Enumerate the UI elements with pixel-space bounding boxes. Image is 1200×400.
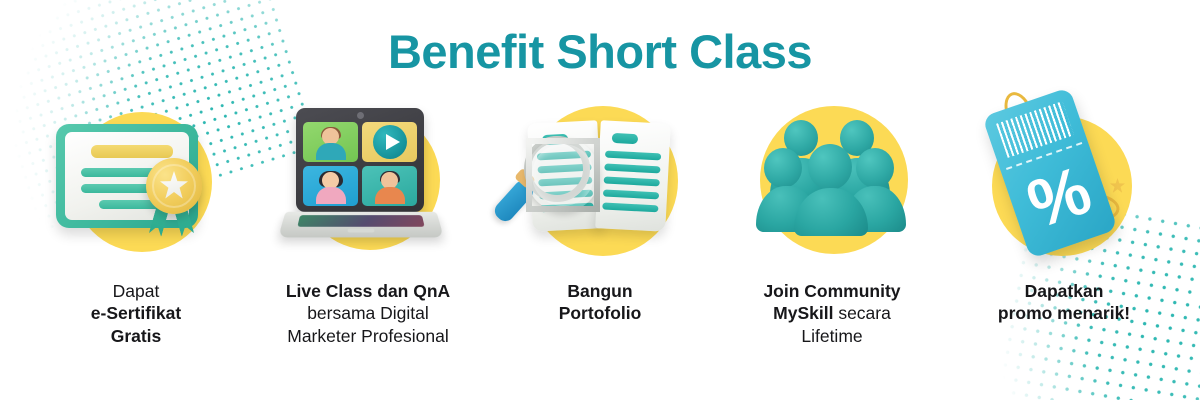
book-text-line: [602, 202, 658, 212]
benefit-item-promo: % Dapatkan promo menarik!: [950, 100, 1178, 325]
caption-line-3: Gratis: [91, 325, 181, 347]
caption-line-2: Portofolio: [559, 302, 642, 324]
book-text-line: [604, 163, 660, 173]
book-text-line: [603, 189, 659, 199]
caption-line-3: Marketer Profesional: [286, 325, 450, 347]
discount-ticket-icon: %: [978, 100, 1150, 268]
benefit-caption: Join Community MySkill secara Lifetime: [763, 280, 900, 347]
video-tile-grid: [303, 122, 417, 206]
caption-text: Join Community: [763, 281, 900, 301]
video-tile-play: [362, 122, 417, 162]
video-tile-participant-2: [303, 166, 358, 206]
caption-line-3: Lifetime: [763, 325, 900, 347]
video-tile-participant-1: [303, 122, 358, 162]
laptop-screen: [296, 108, 424, 212]
benefit-caption: Bangun Portofolio: [559, 280, 642, 325]
magnifier-lens: [526, 138, 600, 212]
benefit-caption: Dapat e-Sertifikat Gratis: [91, 280, 181, 347]
laptop-keyboard: [297, 215, 424, 227]
certificate-medal-icon: [50, 100, 222, 268]
caption-line-2: bersama Digital: [286, 302, 450, 324]
avatar-body: [316, 187, 346, 204]
book-text-line: [604, 176, 660, 186]
people-cluster: [756, 114, 908, 244]
caption-line-1: Dapat: [91, 280, 181, 302]
star-icon: [160, 171, 188, 199]
play-icon: [373, 125, 407, 159]
person-head-mid-right: [856, 148, 894, 188]
benefit-banner: Benefit Short Class: [0, 0, 1200, 400]
benefit-item-live-class: Live Class dan QnA bersama Digital Marke…: [254, 100, 482, 347]
person-head-front-center: [808, 144, 852, 190]
benefit-list: Dapat e-Sertifikat Gratis: [0, 100, 1200, 347]
avatar-body: [375, 187, 405, 204]
benefit-item-portfolio: Bangun Portofolio: [486, 100, 714, 325]
caption-line-1: Live Class dan QnA: [286, 280, 450, 302]
caption-line-2: e-Sertifikat: [91, 302, 181, 324]
book-text-line: [612, 133, 638, 144]
certificate-heading-bar: [91, 145, 173, 158]
benefit-item-certificate: Dapat e-Sertifikat Gratis: [22, 100, 250, 347]
magnifier-icon: [510, 138, 582, 210]
caption-line-1: Dapatkan: [998, 280, 1130, 302]
book-magnifier-icon: [514, 100, 686, 268]
benefit-caption: Dapatkan promo menarik!: [998, 280, 1130, 325]
webcam-icon: [357, 112, 364, 119]
laptop-video-call-icon: [282, 100, 454, 268]
caption-line-2: MySkill secara: [763, 302, 900, 324]
caption-brand: MySkill: [773, 303, 833, 323]
book-text-line: [605, 151, 661, 161]
percent-symbol: %: [1020, 158, 1100, 241]
page-title: Benefit Short Class: [0, 24, 1200, 79]
caption-line-1: Bangun: [559, 280, 642, 302]
laptop-trackpad: [348, 229, 375, 233]
caption-text: secara: [833, 303, 890, 323]
benefit-caption: Live Class dan QnA bersama Digital Marke…: [286, 280, 450, 347]
benefit-item-community: Join Community MySkill secara Lifetime: [718, 100, 946, 347]
caption-line-2: promo menarik!: [998, 302, 1130, 324]
avatar-body: [316, 143, 346, 160]
people-group-icon: [746, 100, 918, 268]
laptop-base: [278, 212, 444, 238]
person-head-mid-left: [764, 148, 802, 188]
gold-medal: [146, 158, 202, 214]
caption-line-1: Join Community: [763, 280, 900, 302]
voucher-ticket: %: [982, 87, 1118, 259]
book-page-right: [595, 120, 671, 232]
video-tile-participant-3: [362, 166, 417, 206]
